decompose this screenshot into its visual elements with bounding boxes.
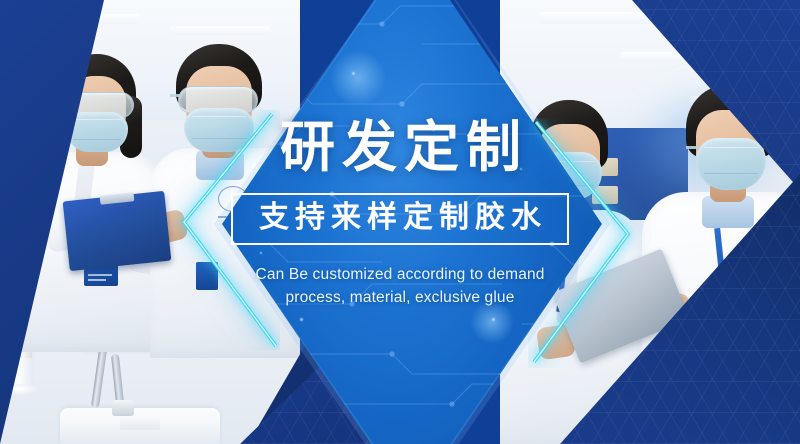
subtitle-text: 支持来样定制胶水	[259, 202, 547, 234]
light-speck	[352, 72, 355, 75]
light-speck	[330, 50, 386, 106]
mixer-label	[120, 418, 160, 430]
english-line-2: process, material, exclusive glue	[0, 286, 800, 309]
english-line-1: Can Be customized according to demand	[0, 263, 800, 286]
subtitle-box: 支持来样定制胶水	[231, 193, 569, 245]
ceiling-light-icon	[170, 26, 270, 35]
goggles-strap	[170, 94, 182, 97]
light-speck	[492, 318, 495, 321]
page-title: 研发定制	[0, 118, 800, 177]
banner-text-block: 研发定制 支持来样定制胶水 Can Be customized accordin…	[0, 118, 800, 310]
english-subtitle: Can Be customized according to demand pr…	[0, 263, 800, 310]
promo-banner: 研发定制 支持来样定制胶水 Can Be customized accordin…	[0, 0, 800, 444]
light-speck	[300, 318, 303, 321]
mixer-clamp	[112, 400, 134, 416]
